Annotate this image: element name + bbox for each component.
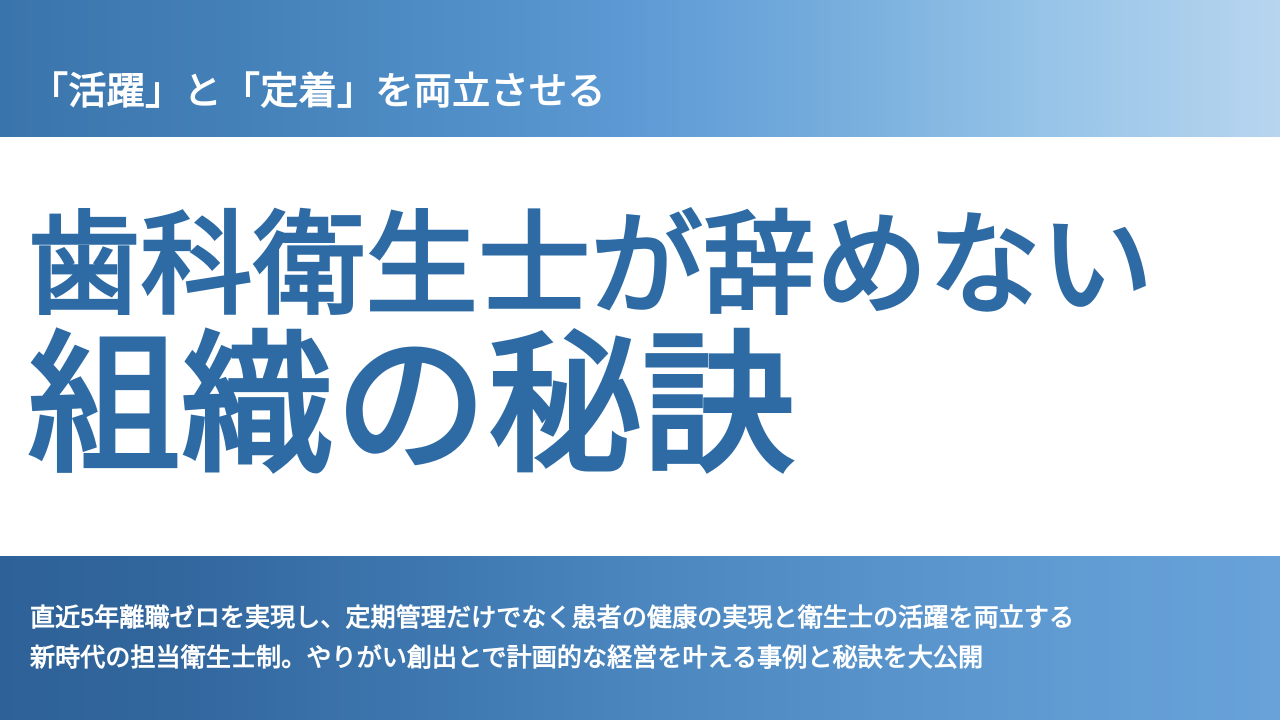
footer-line-1: 直近5年離職ゼロを実現し、定期管理だけでなく患者の健康の実現と衛生士の活躍を両立… [30,598,1280,639]
title-area: 歯科衛生士が辞めない 組織の秘訣 [0,137,1280,556]
slide-canvas: 「活躍」と「定着」を両立させる 歯科衛生士が辞めない 組織の秘訣 直近5年離職ゼ… [0,0,1280,720]
title-line-1: 歯科衛生士が辞めない [28,209,1280,323]
title-line-2: 組織の秘訣 [28,329,1280,484]
header-band: 「活躍」と「定着」を両立させる [0,0,1280,137]
footer-band: 直近5年離職ゼロを実現し、定期管理だけでなく患者の健康の実現と衛生士の活躍を両立… [0,556,1280,720]
header-eyebrow-text: 「活躍」と「定着」を両立させる [0,73,606,137]
footer-line-2: 新時代の担当衛生士制。やりがい創出とで計画的な経営を叶える事例と秘訣を大公開 [30,638,1280,679]
